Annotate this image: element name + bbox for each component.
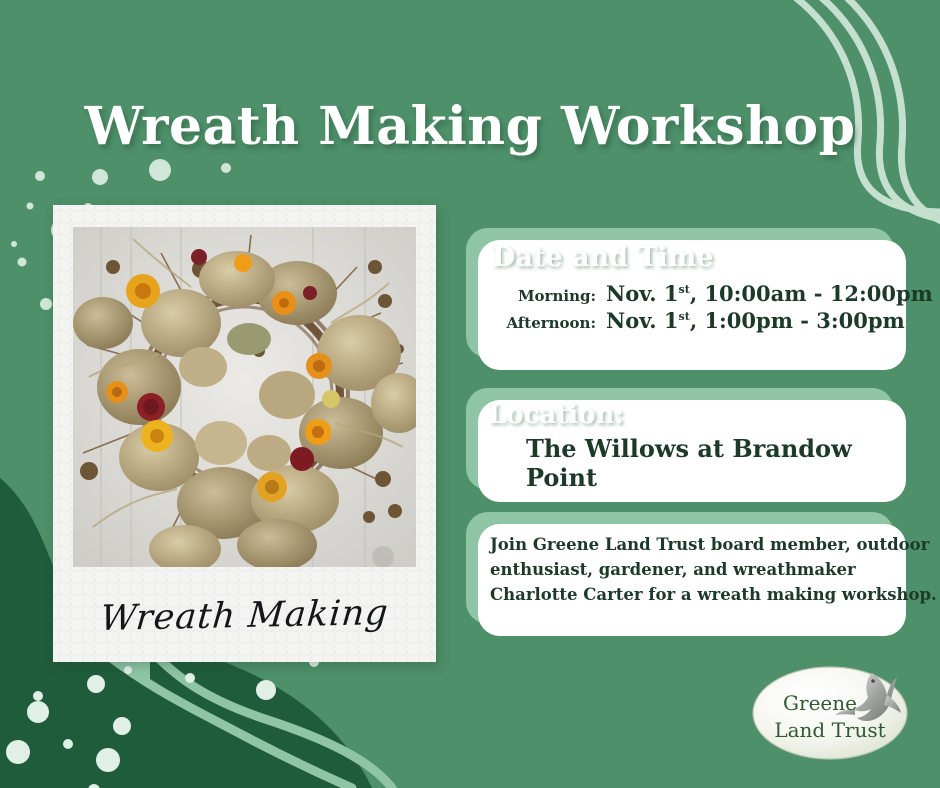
- wreath-photo: [73, 227, 416, 567]
- date-row-afternoon: Afternoon: Nov. 1st, 1:00pm - 3:00pm: [466, 307, 894, 334]
- logo-line-1: Greene: [783, 691, 857, 715]
- date-rows: Morning: Nov. 1st, 10:00am - 12:00pm Aft…: [466, 280, 894, 334]
- location-value: The Willows at Brandow Point: [526, 434, 894, 492]
- afternoon-label: Afternoon:: [494, 314, 606, 332]
- logo-line-2: Land Trust: [774, 718, 885, 742]
- afternoon-ordinal: st: [679, 310, 690, 323]
- description-line-3: Charlotte Carter for a wreath making wor…: [490, 582, 876, 607]
- afternoon-value: Nov. 1st, 1:00pm - 3:00pm: [606, 308, 905, 333]
- morning-label: Morning:: [494, 287, 606, 305]
- date-row-morning: Morning: Nov. 1st, 10:00am - 12:00pm: [466, 280, 894, 307]
- dot-cluster-bottom-left: [6, 648, 319, 788]
- description-line-2: enthusiast, gardener, and wreathmaker: [490, 557, 876, 582]
- morning-value: Nov. 1st, 10:00am - 12:00pm: [606, 281, 933, 306]
- description-card: Join Greene Land Trust board member, out…: [466, 512, 894, 624]
- morning-ordinal: st: [679, 283, 690, 296]
- description-text: Join Greene Land Trust board member, out…: [490, 532, 876, 607]
- date-and-time-card: Date and Time Morning: Nov. 1st, 10:00am…: [466, 228, 894, 358]
- polaroid-card: Wreath Making: [53, 205, 436, 662]
- page-title: Wreath Making Workshop: [0, 96, 940, 157]
- location-card-heading: Location:: [488, 400, 624, 430]
- bottom-curve-2: [96, 646, 352, 788]
- photo-caption: Wreath Making: [51, 592, 438, 640]
- morning-time: , 10:00am - 12:00pm: [690, 281, 933, 306]
- afternoon-time: , 1:00pm - 3:00pm: [690, 308, 905, 333]
- afternoon-date: Nov. 1: [606, 308, 679, 333]
- location-card: Location: The Willows at Brandow Point: [466, 388, 894, 490]
- greene-land-trust-logo: Greene Land Trust: [751, 665, 909, 761]
- description-line-1: Join Greene Land Trust board member, out…: [490, 532, 876, 557]
- morning-date: Nov. 1: [606, 281, 679, 306]
- poster-canvas: Wreath Making Workshop: [0, 0, 940, 788]
- date-card-heading: Date and Time: [492, 242, 713, 273]
